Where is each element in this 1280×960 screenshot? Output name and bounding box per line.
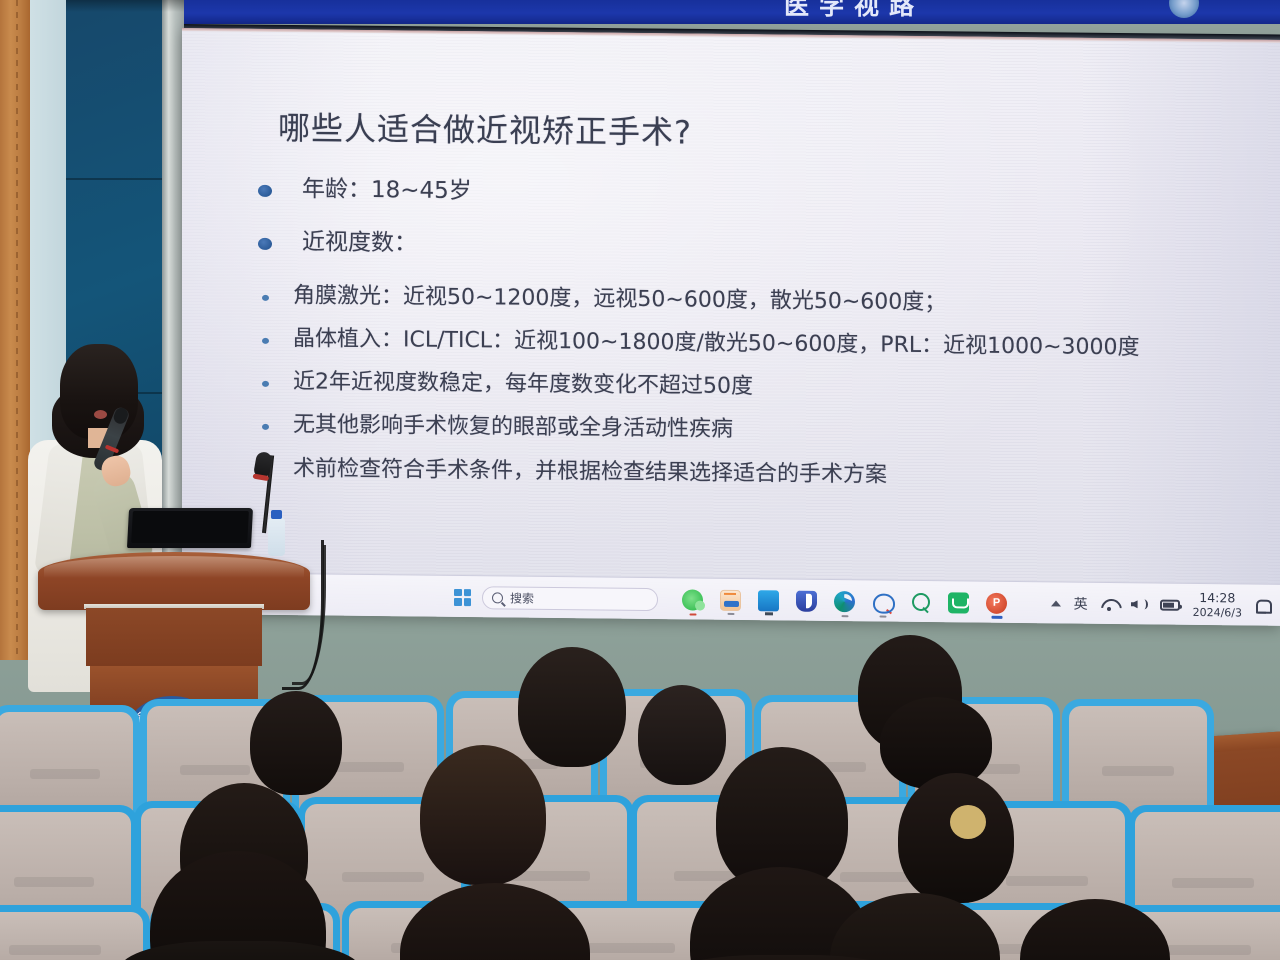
bullet-text: 近视度数：: [302, 229, 417, 260]
institution-seal-icon: [1169, 0, 1199, 18]
everything-search-icon[interactable]: [910, 591, 931, 612]
mail-icon[interactable]: [948, 592, 969, 613]
wechat-icon[interactable]: [682, 589, 703, 610]
microsoft-edge-icon[interactable]: [834, 591, 855, 612]
slide-bullet-list: 年龄：18~45岁 近视度数： 角膜激光：近视50~1200度，远视50~600…: [254, 175, 1264, 509]
document-app-icon[interactable]: [720, 589, 741, 610]
audience-head: [898, 773, 1014, 903]
screenshot-stage: 医学视路 哪些人适合做近视矫正手术? 年龄：18~45岁 近视度数： 角膜激光：…: [0, 0, 1280, 960]
clock[interactable]: 14:28 2024/6/3: [1193, 590, 1242, 620]
taskbar-app-icons: [682, 589, 1007, 614]
powerpoint-icon[interactable]: [986, 592, 1007, 613]
bullet-marker-icon: [262, 295, 269, 301]
stage-banner: 医学视路: [184, 0, 1280, 24]
clock-date: 2024/6/3: [1193, 606, 1242, 620]
bullet-item: 晶体植入：ICL/TICL：近视100~1800度/散光50~600度，PRL：…: [254, 325, 1264, 364]
audience-head: [250, 691, 342, 795]
bullet-text: 无其他影响手术恢复的眼部或全身活动性疾病: [293, 412, 733, 445]
bullet-marker-icon: [258, 185, 272, 197]
ime-indicator[interactable]: 英: [1074, 594, 1088, 614]
bullet-marker-icon: [262, 424, 269, 430]
audience-head: [420, 745, 546, 885]
windows-start-icon[interactable]: [454, 588, 471, 605]
notification-bell-icon[interactable]: [1255, 598, 1270, 613]
system-tray: 英 14:28 2024/6/3: [1051, 582, 1270, 625]
bullet-text: 近2年近视度数稳定，每年度数变化不超过50度: [293, 368, 753, 401]
taskbar-center-group: 搜索: [454, 576, 1007, 624]
bullet-item: 术前检查符合手术条件，并根据检查结果选择适合的手术方案: [254, 454, 1264, 493]
bullet-text: 晶体植入：ICL/TICL：近视100~1800度/散光50~600度，PRL：…: [293, 325, 1140, 362]
clock-time: 14:28: [1193, 590, 1242, 606]
speaker-mouth: [94, 410, 107, 419]
bullet-marker-icon: [258, 238, 272, 250]
bullet-item: 无其他影响手术恢复的眼部或全身活动性疾病: [254, 411, 1264, 450]
security-shield-icon[interactable]: [796, 590, 817, 611]
bullet-text: 角膜激光：近视50~1200度，远视50~600度，散光50~600度；: [293, 282, 946, 317]
search-icon: [492, 592, 503, 603]
bullet-marker-icon: [262, 381, 269, 387]
podium-top: [38, 552, 310, 610]
bullet-item: 年龄：18~45岁: [254, 175, 1264, 215]
display-settings-icon[interactable]: [758, 590, 779, 611]
chair: [0, 905, 150, 960]
bullet-item: 近2年近视度数稳定，每年度数变化不超过50度: [254, 368, 1264, 407]
audience-head: [880, 697, 992, 789]
bullet-text: 年龄：18~45岁: [302, 175, 472, 206]
bullet-item: 角膜激光：近视50~1200度，远视50~600度，散光50~600度；: [254, 282, 1264, 321]
presentation-slide: 哪些人适合做近视矫正手术? 年龄：18~45岁 近视度数： 角膜激光：近视50~…: [182, 28, 1280, 626]
audience-head: [518, 647, 626, 767]
audience-area: [0, 655, 1280, 960]
wifi-icon[interactable]: [1101, 597, 1118, 610]
bullet-marker-icon: [262, 338, 269, 344]
projection-screen: 哪些人适合做近视矫正手术? 年龄：18~45岁 近视度数： 角膜激光：近视50~…: [182, 28, 1280, 626]
hair-tie: [950, 805, 986, 839]
volume-icon[interactable]: [1131, 597, 1147, 611]
slide-title: 哪些人适合做近视矫正手术?: [278, 103, 692, 153]
qq-chat-icon[interactable]: [872, 591, 893, 612]
search-placeholder: 搜索: [510, 589, 534, 606]
bullet-item: 近视度数：: [254, 228, 1264, 268]
show-hidden-icons-chevron[interactable]: [1051, 600, 1061, 606]
speaker-hair: [60, 344, 138, 439]
banner-title: 医学视路: [784, 0, 924, 22]
bullet-text: 术前检查符合手术条件，并根据检查结果选择适合的手术方案: [293, 455, 887, 490]
audience-head: [638, 685, 726, 785]
battery-icon[interactable]: [1160, 599, 1180, 610]
search-input[interactable]: 搜索: [482, 586, 658, 611]
